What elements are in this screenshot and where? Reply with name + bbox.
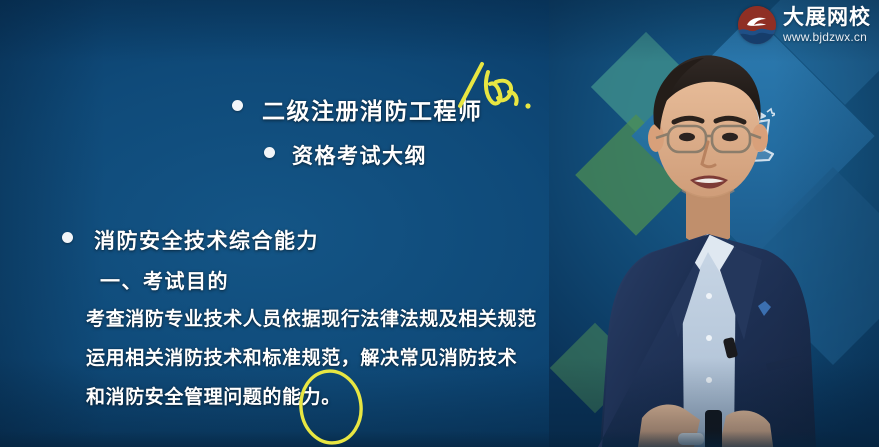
slide-text-layer: 二级注册消防工程师 资格考试大纲 消防安全技术综合能力 一、考试目的 考查消防专… bbox=[0, 0, 879, 447]
slide-subsection-heading: 一、考试目的 bbox=[100, 265, 229, 294]
brand-text-block: 大展网校 www.bjdzwx.cn bbox=[783, 7, 871, 43]
wave-circle-logo-icon bbox=[738, 6, 776, 44]
brand-name: 大展网校 bbox=[783, 7, 871, 28]
bullet-title-1 bbox=[232, 100, 243, 111]
bullet-title-2 bbox=[264, 147, 275, 158]
slide-section-heading: 消防安全技术综合能力 bbox=[94, 225, 319, 255]
brand-url: www.bjdzwx.cn bbox=[783, 31, 871, 43]
slide-body-line-2: 运用相关消防技术和标准规范，解决常见消防技术 bbox=[86, 343, 517, 370]
slide-title-line-2: 资格考试大纲 bbox=[292, 140, 427, 170]
slide-body-line-1: 考查消防专业技术人员依据现行法律法规及相关规范 bbox=[86, 304, 537, 331]
brand-logo: 大展网校 www.bjdzwx.cn bbox=[738, 6, 871, 44]
slide-body-line-3: 和消防安全管理问题的能力。 bbox=[86, 382, 341, 409]
slide-title-line-1: 二级注册消防工程师 bbox=[262, 92, 483, 126]
lecture-video-frame: B bbox=[0, 0, 879, 447]
bullet-section bbox=[62, 232, 73, 243]
